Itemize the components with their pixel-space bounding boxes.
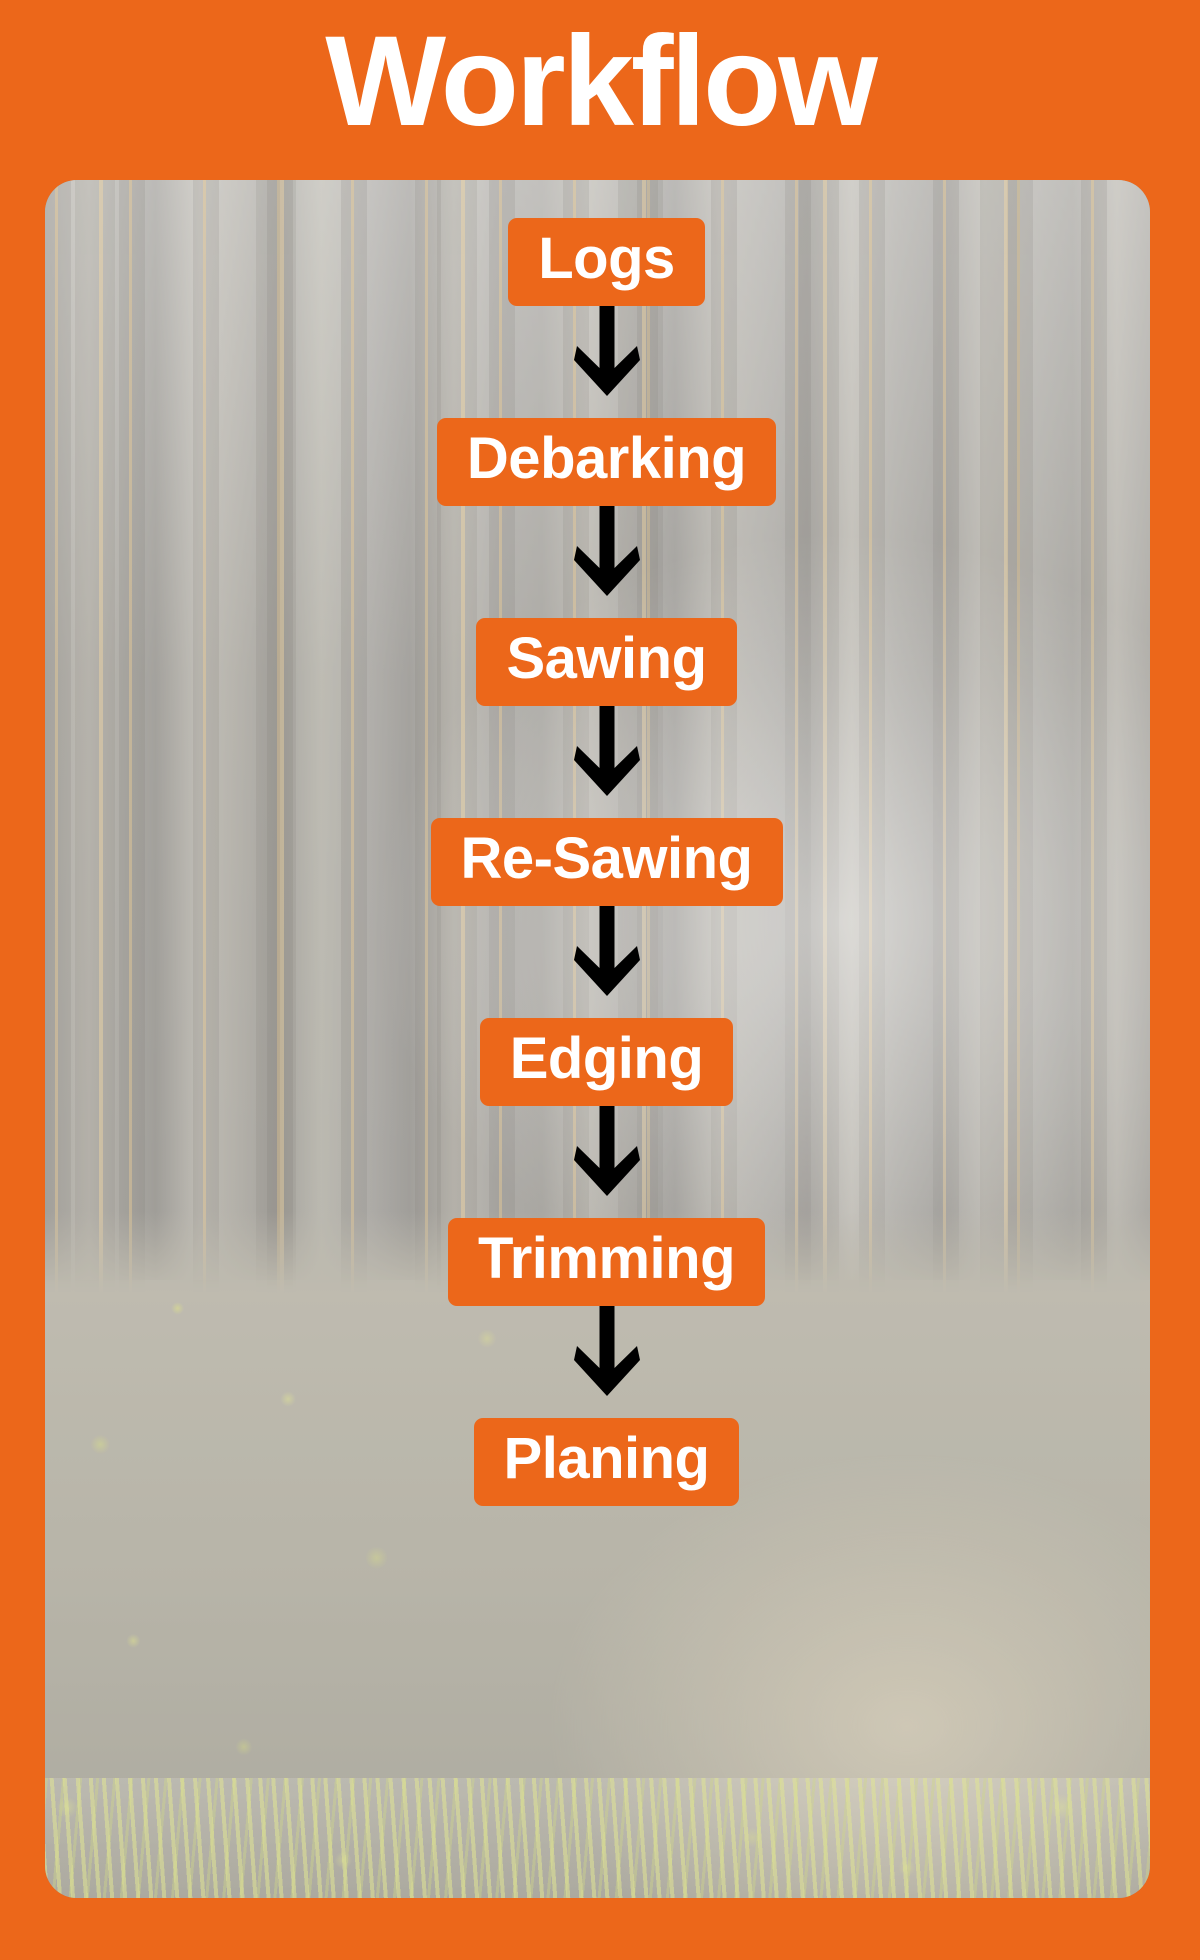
arrow-down-icon [574, 1106, 640, 1218]
arrow-down-icon [574, 1306, 640, 1418]
flow-step-label: Logs [538, 226, 675, 291]
flow-step-edging[interactable]: Edging [480, 1018, 734, 1106]
arrow-down-icon [574, 306, 640, 418]
flow-step-debarking[interactable]: Debarking [437, 418, 776, 506]
flow-step-label: Re-Sawing [461, 826, 753, 891]
workflow-diagram: Logs Debarking Sawing Re-Sawing Edging [45, 218, 1150, 1506]
flow-step-logs[interactable]: Logs [508, 218, 705, 306]
flow-step-label: Sawing [506, 626, 706, 691]
flow-step-label: Debarking [467, 426, 746, 491]
flow-step-planing[interactable]: Planing [474, 1418, 740, 1506]
page-title: Workflow [0, 18, 1200, 146]
flow-step-sawing[interactable]: Sawing [476, 618, 736, 706]
flow-step-label: Edging [510, 1026, 704, 1091]
flow-step-label: Planing [504, 1426, 710, 1491]
flow-step-label: Trimming [478, 1226, 735, 1291]
photo-card: Logs Debarking Sawing Re-Sawing Edging [45, 180, 1150, 1898]
arrow-down-icon [574, 506, 640, 618]
arrow-down-icon [574, 706, 640, 818]
flow-step-trimming[interactable]: Trimming [448, 1218, 765, 1306]
arrow-down-icon [574, 906, 640, 1018]
flow-step-re-sawing[interactable]: Re-Sawing [431, 818, 783, 906]
